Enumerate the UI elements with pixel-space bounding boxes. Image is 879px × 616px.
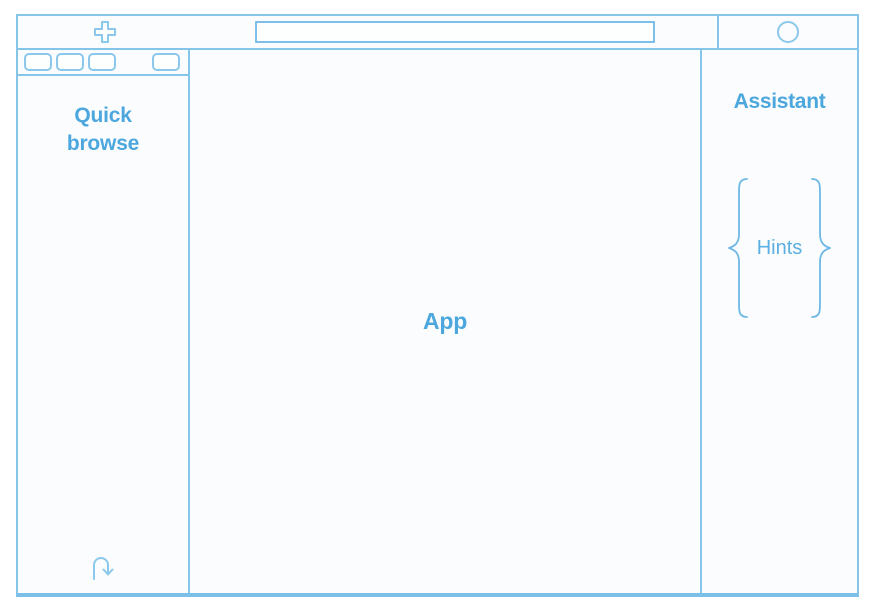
assistant-title: Assistant xyxy=(734,90,826,114)
hints-left-brace xyxy=(725,176,751,320)
sidebar: Quick browse xyxy=(18,50,190,593)
account-button[interactable] xyxy=(717,16,857,48)
tab-overflow[interactable] xyxy=(152,53,180,71)
sidebar-content: Quick browse xyxy=(18,76,188,593)
tab-3[interactable] xyxy=(88,53,116,71)
hints-right-brace xyxy=(808,176,834,320)
window-body: Quick browse App Assistant xyxy=(18,50,857,593)
tab-1[interactable] xyxy=(24,53,52,71)
circle-avatar-icon xyxy=(776,20,800,44)
browser-window: Quick browse App Assistant xyxy=(16,14,859,597)
plus-icon xyxy=(92,19,118,45)
address-bar-area xyxy=(192,16,717,48)
new-tab-button[interactable] xyxy=(18,16,192,48)
sidebar-title: Quick browse xyxy=(38,102,168,157)
hints-label: Hints xyxy=(751,237,809,260)
tab-2[interactable] xyxy=(56,53,84,71)
u-turn-arrow-icon[interactable] xyxy=(86,551,120,583)
hints-block: Hints xyxy=(725,176,835,320)
tab-strip xyxy=(18,50,188,76)
address-input[interactable] xyxy=(255,21,655,43)
assistant-panel: Assistant Hints xyxy=(702,50,857,593)
title-bar xyxy=(18,16,857,50)
sidebar-footer xyxy=(18,551,188,583)
app-stage[interactable]: App xyxy=(190,50,702,593)
app-label: App xyxy=(423,308,467,335)
